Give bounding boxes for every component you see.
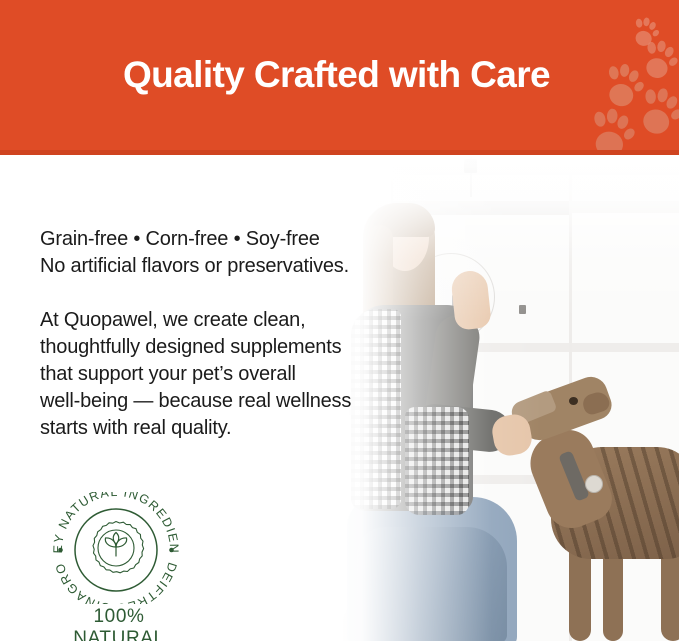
jeans-shading [357, 527, 507, 641]
natural-ingredient-badge: KEY NATURAL INGREDIENT DEIFTREC CINAGRO [46, 492, 196, 641]
badge-seal: KEY NATURAL INGREDIENT DEIFTREC CINAGRO [46, 492, 186, 604]
dog-tag-icon [585, 475, 603, 493]
extended-hand [490, 412, 534, 458]
brand-line-1: At Quopawel, we create clean, [40, 307, 432, 334]
brand-line-3: that support your pet’s overall [40, 361, 432, 388]
svg-text:DEIFTREC CINAGRO: DEIFTREC CINAGRO [53, 561, 180, 604]
brand-line-2: thoughtfully designed supplements [40, 334, 432, 361]
shelf-board [573, 343, 679, 352]
body-copy: Grain-free • Corn-free • Soy-free No art… [40, 226, 432, 442]
dog-eye [569, 397, 578, 405]
badge-caption: 100% NATURAL [46, 606, 192, 641]
header-banner: Quality Crafted with Care [0, 0, 679, 155]
brand-line-4: well-being — because real wellness [40, 388, 432, 415]
claims-line-1: Grain-free • Corn-free • Soy-free [40, 226, 432, 253]
page-title: Quality Crafted with Care [0, 0, 679, 150]
claims-line-2: No artificial flavors or preservatives. [40, 253, 432, 280]
brand-line-5: starts with real quality. [40, 415, 432, 442]
shelf-board [571, 201, 679, 213]
shelf-object [464, 159, 477, 173]
raised-hand [450, 269, 492, 330]
leaf-sprout-icon [105, 533, 126, 557]
paw-print-icon [583, 105, 640, 155]
product-info-panel: Quality Crafted with Care [0, 0, 679, 641]
paragraph-spacer [40, 280, 432, 307]
badge-bottom-arc-text: DEIFTREC CINAGRO [53, 561, 180, 604]
badge-seal-graphic: KEY NATURAL INGREDIENT DEIFTREC CINAGRO [46, 492, 186, 604]
